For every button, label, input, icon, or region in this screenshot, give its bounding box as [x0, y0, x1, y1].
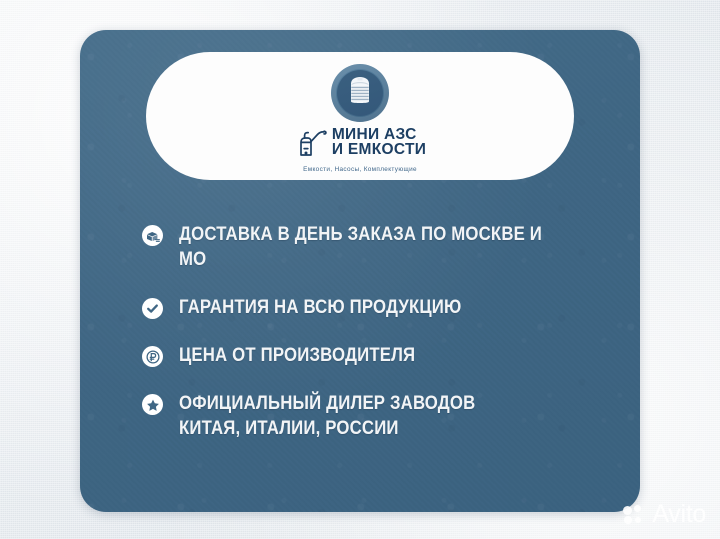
feature-label: ГАРАНТИЯ НА ВСЮ ПРОДУКЦИЮ	[179, 295, 461, 320]
star-icon	[142, 394, 163, 415]
feature-label: ОФИЦИАЛЬНЫЙ ДИЛЕР ЗАВОДОВ КИТАЯ, ИТАЛИИ,…	[179, 391, 475, 441]
logo-line-2: И ЕМКОСТИ	[332, 142, 426, 158]
avito-dots-icon	[623, 505, 647, 525]
feature-item-delivery: ДОСТАВКА В ДЕНЬ ЗАКАЗА ПО МОСКВЕ И МО	[142, 222, 612, 272]
avito-watermark: Avito	[623, 500, 706, 529]
logo-words: МИНИ АЗС И ЕМКОСТИ	[332, 127, 426, 158]
logo-badge-inner	[337, 70, 383, 116]
logo-panel: МИНИ АЗС И ЕМКОСТИ Емкости, Насосы, Комп…	[146, 52, 574, 180]
feature-label: ДОСТАВКА В ДЕНЬ ЗАКАЗА ПО МОСКВЕ И МО	[179, 222, 551, 272]
logo-lockup: МИНИ АЗС И ЕМКОСТИ Емкости, Насосы, Комп…	[294, 64, 426, 173]
fuel-tank-icon	[347, 75, 373, 110]
feature-list: ДОСТАВКА В ДЕНЬ ЗАКАЗА ПО МОСКВЕ И МО ГА…	[142, 222, 612, 441]
promo-card: МИНИ АЗС И ЕМКОСТИ Емкости, Насосы, Комп…	[80, 30, 640, 512]
feature-item-price: ЦЕНА ОТ ПРОИЗВОДИТЕЛЯ	[142, 343, 612, 368]
logo-wordmark: МИНИ АЗС И ЕМКОСТИ	[294, 122, 426, 163]
page-canvas: МИНИ АЗС И ЕМКОСТИ Емкости, Насосы, Комп…	[0, 0, 720, 539]
logo-tagline: Емкости, Насосы, Комплектующие	[303, 166, 417, 173]
logo-badge	[331, 64, 389, 122]
feature-item-warranty: ГАРАНТИЯ НА ВСЮ ПРОДУКЦИЮ	[142, 295, 612, 320]
feature-item-dealer: ОФИЦИАЛЬНЫЙ ДИЛЕР ЗАВОДОВ КИТАЯ, ИТАЛИИ,…	[142, 391, 612, 441]
fuel-nozzle-icon	[294, 122, 328, 163]
feature-label: ЦЕНА ОТ ПРОИЗВОДИТЕЛЯ	[179, 343, 415, 368]
delivery-truck-icon	[142, 225, 163, 246]
check-circle-icon	[142, 298, 163, 319]
logo-line-1: МИНИ АЗС	[332, 127, 426, 143]
avito-brand-label: Avito	[652, 500, 706, 529]
ruble-coin-icon	[142, 346, 163, 367]
